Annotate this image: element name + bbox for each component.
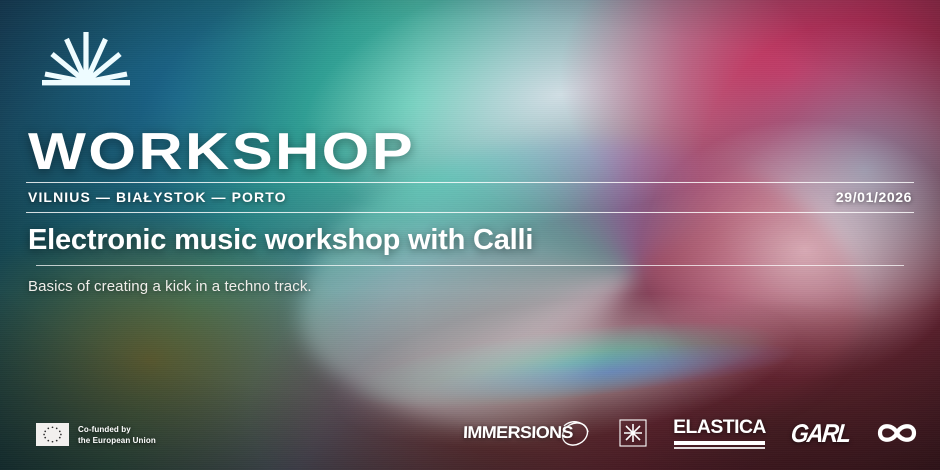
divider-bottom — [36, 265, 904, 266]
elastica-label: ELASTICA — [673, 417, 766, 439]
event-headline: Electronic music workshop with Calli — [28, 224, 533, 257]
event-poster: WORKSHOP VILNIUS — BIAŁYSTOK — PORTO 29/… — [0, 0, 940, 470]
eu-funding-line1: Co-funded by — [78, 424, 156, 435]
sponsor-garl[interactable]: GARL — [791, 420, 850, 447]
cities-line: VILNIUS — BIAŁYSTOK — PORTO — [28, 189, 287, 205]
eu-funding-block: Co-funded by the European Union — [36, 423, 156, 446]
infinity-icon — [876, 420, 918, 446]
sponsor-elastica[interactable]: ELASTICA — [674, 417, 765, 449]
elastica-bar-icon — [674, 441, 765, 445]
divider-top — [26, 182, 914, 183]
event-subtitle: Basics of creating a kick in a techno tr… — [28, 278, 312, 295]
eu-flag-icon — [36, 423, 69, 446]
divider-middle — [26, 212, 914, 213]
eu-funding-line2: the European Union — [78, 435, 156, 446]
eu-funding-text: Co-funded by the European Union — [78, 424, 156, 446]
square-burst-icon — [618, 418, 648, 448]
sponsor-logos: IMMERSIONS — [463, 416, 918, 450]
starburst-sunrise-icon — [38, 24, 134, 92]
poster-content: WORKSHOP VILNIUS — BIAŁYSTOK — PORTO 29/… — [0, 0, 940, 470]
immersions-label: IMMERSIONS — [462, 423, 573, 443]
sponsor-square-burst[interactable] — [618, 418, 648, 448]
page-title: WORKSHOP — [28, 124, 415, 180]
sponsor-immersions[interactable]: IMMERSIONS — [463, 416, 593, 450]
sponsor-infinity[interactable] — [876, 420, 918, 446]
elastica-bar-thin-icon — [674, 447, 765, 449]
event-date: 29/01/2026 — [836, 189, 912, 205]
garl-wordmark-icon: GARL — [790, 418, 852, 448]
